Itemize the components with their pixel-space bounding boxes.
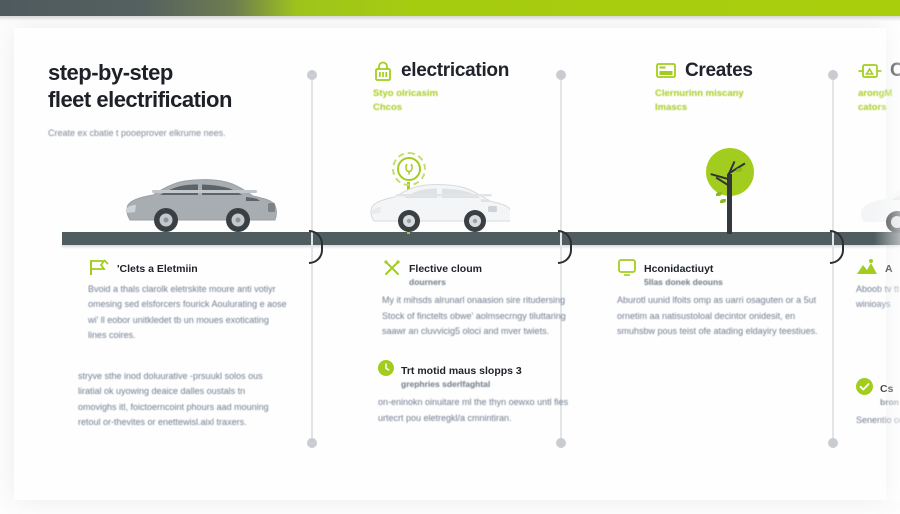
hero-title-line-2: fleet electrification bbox=[48, 87, 298, 114]
content-block-clock: Trt motid maus slopps 3 grephries sderlf… bbox=[378, 360, 578, 426]
white-electric-car bbox=[368, 182, 510, 234]
hero-title-line-1: step-by-step bbox=[48, 60, 298, 87]
tree-leaf bbox=[720, 199, 726, 203]
column-subtitle-line-2: cators bbox=[858, 101, 900, 115]
block-body: My it mihsds alrunarl onaasion sire ritu… bbox=[382, 293, 582, 339]
tree-leaf bbox=[716, 192, 722, 196]
divider-dot-bottom bbox=[307, 438, 317, 448]
block-subtitle: grephries sderlfaghtal bbox=[401, 379, 522, 390]
column-header-electrication: electrication Styo olricasim Chcos bbox=[373, 60, 573, 115]
timeline-road-shadow bbox=[62, 245, 900, 249]
hero-subtitle: Create ex cbatie t pooeprover elkrume ne… bbox=[48, 126, 298, 141]
top-accent-bar bbox=[0, 0, 900, 16]
column-title: electrication bbox=[401, 60, 509, 82]
column-subtitle: Clernurinn miscany Imascs bbox=[655, 87, 855, 115]
content-block-monitor: Hconidactiuyt 5llas donek deouns Aburotl… bbox=[617, 258, 822, 339]
column-subtitle-line-2: Imascs bbox=[655, 101, 855, 115]
column-subtitle-line-1: arongM bbox=[858, 87, 900, 101]
content-block-secondary: stryve sthe inod doluurative -prsuukl so… bbox=[78, 364, 278, 430]
sparkle-icon bbox=[382, 258, 402, 278]
block-body: Senentio or ntay/t bbox=[856, 413, 900, 428]
infographic-canvas: step-by-step fleet electrification Creat… bbox=[0, 0, 900, 514]
block-subtitle: 5llas donek deouns bbox=[644, 277, 723, 288]
block-subtitle: dourners bbox=[409, 277, 482, 288]
column-divider-3 bbox=[832, 70, 834, 448]
block-body: stryve sthe inod doluurative -prsuukl so… bbox=[78, 369, 278, 430]
card-screen-icon bbox=[655, 61, 677, 81]
column-subtitle-line-2: Chcos bbox=[373, 101, 573, 115]
block-title: Cs bbox=[880, 383, 893, 395]
divider-dot-top bbox=[307, 70, 317, 80]
content-block-flag: 'Clets a Eletmiin Bvoid a thals clarolk … bbox=[88, 258, 288, 343]
content-block-sparkle: Flective cloum dourners My it mihsds alr… bbox=[382, 258, 582, 339]
column-subtitle: Styo olricasim Chcos bbox=[373, 87, 573, 115]
lock-icon bbox=[373, 60, 393, 82]
divider-dot-bottom bbox=[828, 438, 838, 448]
content-block-chart: A Aboob tv tt-pernno luutaje b winioays bbox=[856, 258, 900, 313]
block-subtitle: bron bbox=[880, 397, 899, 408]
block-body: Aburotl uunid lfoits omp as uarri osagut… bbox=[617, 293, 822, 339]
gray-station-wagon bbox=[122, 176, 277, 234]
block-body: Bvoid a thals clarolk eletrskite moure a… bbox=[88, 282, 288, 343]
chart-mountain-icon bbox=[856, 258, 878, 276]
block-title: Hconidactiuyt bbox=[644, 263, 713, 275]
page-title: step-by-step fleet electrification bbox=[48, 60, 298, 114]
block-body: Aboob tv tt-pernno luutaje b winioays bbox=[856, 282, 900, 313]
block-body: on-eninokn oinuitare ml the thyn oewxo u… bbox=[378, 395, 578, 426]
block-title: Flective cloum bbox=[409, 263, 482, 275]
white-car-partial bbox=[858, 184, 900, 234]
check-circle-icon bbox=[856, 378, 873, 395]
divider-dot-bottom bbox=[556, 438, 566, 448]
block-title: 'Clets a Eletmiin bbox=[117, 263, 198, 275]
block-title: Trt motid maus slopps 3 bbox=[401, 365, 522, 377]
block-title: A bbox=[885, 263, 893, 275]
column-divider-1 bbox=[311, 70, 313, 448]
column-title: C bbox=[890, 60, 900, 82]
column-header-creates: Creates Clernurinn miscany Imascs bbox=[655, 60, 855, 115]
hero-column: step-by-step fleet electrification Creat… bbox=[48, 60, 298, 141]
column-title: Creates bbox=[685, 60, 753, 82]
column-subtitle: arongM cators bbox=[858, 87, 900, 115]
clock-icon bbox=[378, 360, 394, 376]
green-tree bbox=[700, 148, 760, 234]
content-block-check: Cs bron Senentio or ntay/t bbox=[856, 378, 900, 429]
flag-icon bbox=[88, 258, 110, 276]
column-subtitle-line-1: Clernurinn miscany bbox=[655, 87, 855, 101]
column-subtitle-line-1: Styo olricasim bbox=[373, 87, 573, 101]
top-accent-bar-shadow bbox=[0, 16, 900, 21]
monitor-icon bbox=[617, 258, 637, 277]
charge-plug-icon bbox=[397, 157, 421, 181]
column-header-indicators: C arongM cators bbox=[858, 60, 900, 115]
gauge-icon bbox=[858, 61, 882, 81]
